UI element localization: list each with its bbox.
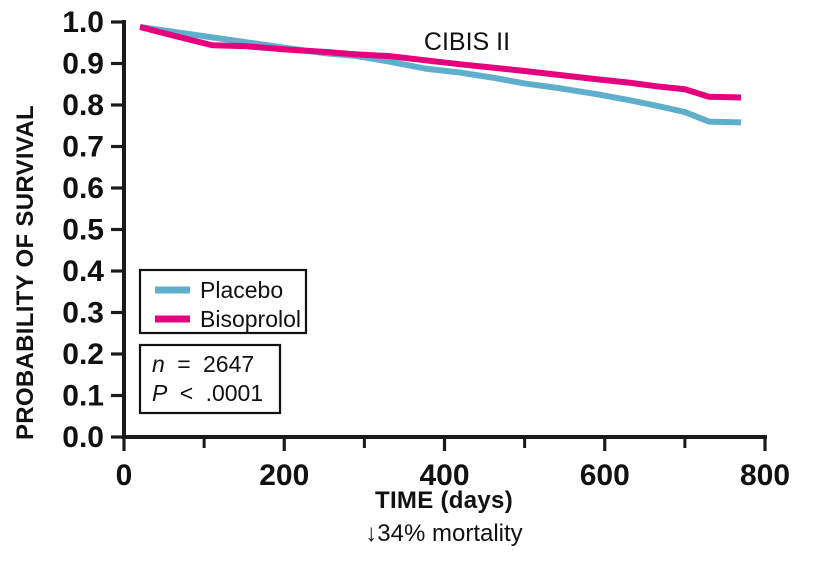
y-axis-title: PROBABILITY OF SURVIVAL [12, 105, 39, 440]
legend-label-bisoprolol: Bisoprolol [200, 306, 301, 332]
n-relation: = [177, 351, 190, 377]
x-tick-label: 800 [740, 459, 790, 492]
x-axis-title: TIME (days) [375, 487, 513, 514]
legend: PlaceboBisoprolol [140, 270, 306, 333]
y-tick-label: 0.3 [62, 297, 104, 330]
p-value-text: P < .0001 [152, 380, 263, 406]
y-tick-label: 0.7 [62, 131, 104, 164]
chart-title: CIBIS II [424, 28, 510, 56]
x-tick-label: 600 [580, 459, 630, 492]
statistics-box: n = 2647 P < .0001 [140, 345, 280, 413]
p-relation: < [180, 380, 193, 406]
y-tick-label: 0.4 [62, 255, 104, 288]
sample-size-text: n = 2647 [152, 351, 254, 377]
legend-label-placebo: Placebo [200, 277, 283, 303]
y-tick-label: 0.9 [62, 48, 104, 81]
y-tick-label: 0.5 [62, 214, 104, 247]
x-axis-ticks: 0200400600800 [116, 437, 790, 492]
survival-curve-figure: PROBABILITY OF SURVIVAL 0.00.10.20.30.40… [0, 0, 817, 562]
chart-canvas: PROBABILITY OF SURVIVAL 0.00.10.20.30.40… [0, 0, 817, 562]
p-symbol: P [152, 380, 168, 406]
p-value: .0001 [206, 380, 264, 406]
n-value: 2647 [203, 351, 254, 377]
x-tick-label: 200 [259, 459, 309, 492]
n-symbol: n [152, 351, 165, 377]
x-tick-label: 0 [116, 459, 133, 492]
y-tick-label: 1.0 [62, 6, 104, 39]
y-tick-label: 0.2 [62, 338, 104, 371]
y-tick-label: 0.8 [62, 89, 104, 122]
mortality-note: ↓34% mortality [365, 520, 522, 547]
y-tick-label: 0.6 [62, 172, 104, 205]
y-tick-label: 0.0 [62, 421, 104, 454]
y-tick-label: 0.1 [62, 380, 104, 413]
y-axis-ticks: 0.00.10.20.30.40.50.60.70.80.91.0 [62, 6, 124, 454]
